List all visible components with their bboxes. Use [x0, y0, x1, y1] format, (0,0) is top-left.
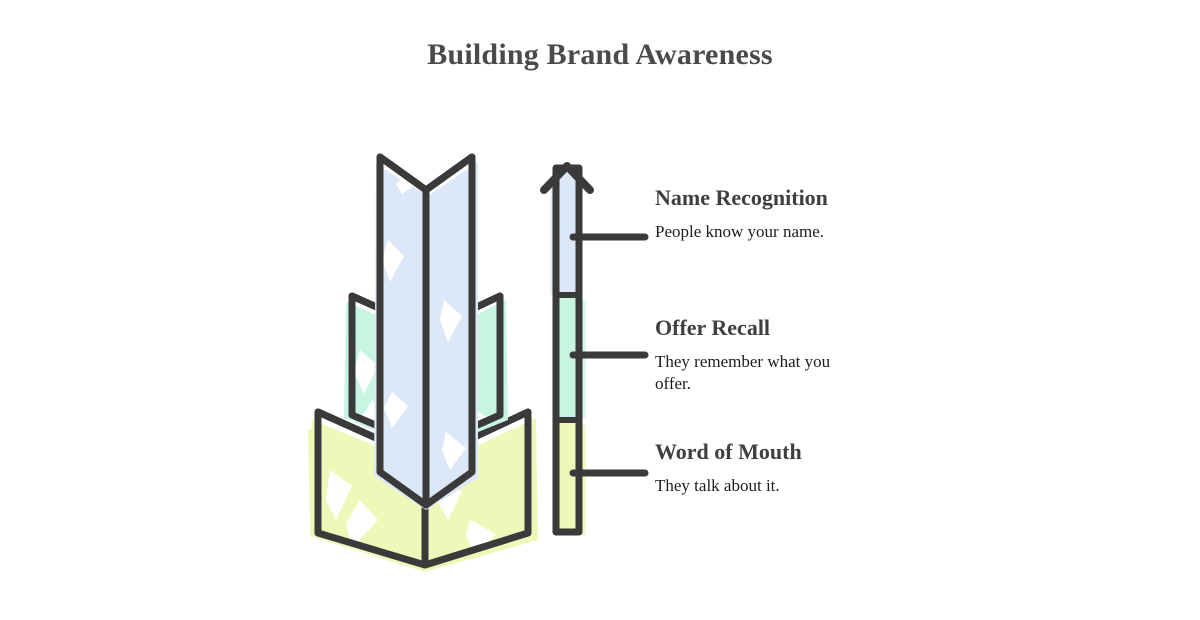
step-labels: Name Recognition People know your name. …: [655, 0, 955, 620]
step-description: They talk about it.: [655, 475, 900, 497]
step-description: They remember what you offer.: [655, 351, 870, 395]
block-name-recognition: [374, 157, 478, 510]
step-description: People know your name.: [655, 221, 885, 243]
step-offer-recall: Offer Recall They remember what you offe…: [655, 313, 900, 395]
diagram-illustration: [0, 0, 1200, 620]
axis-arrow: [544, 166, 645, 535]
infographic-canvas: Building Brand Awareness: [0, 0, 1200, 620]
step-name-recognition: Name Recognition People know your name.: [655, 183, 900, 243]
step-word-of-mouth: Word of Mouth They talk about it.: [655, 437, 900, 497]
step-title: Offer Recall: [655, 313, 900, 343]
step-title: Word of Mouth: [655, 437, 900, 467]
step-title: Name Recognition: [655, 183, 900, 213]
